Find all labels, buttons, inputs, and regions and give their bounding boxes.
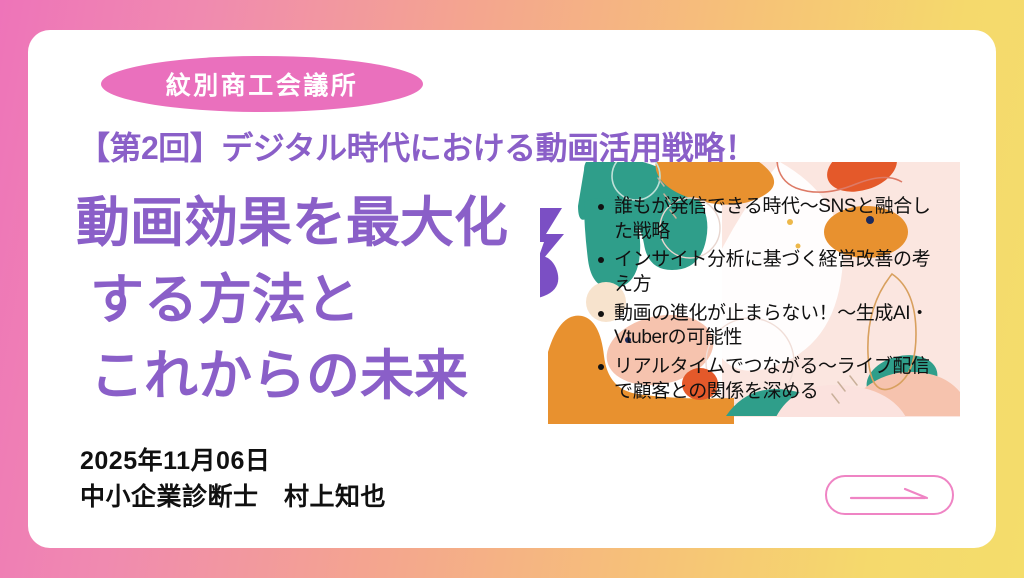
slide-card: 紋別商工会議所 【第2回】デジタル時代における動画活用戦略！ 動画効果を最大化 … bbox=[28, 30, 996, 548]
headline-line-2: する方法と bbox=[76, 262, 576, 339]
organization-badge: 紋別商工会議所 bbox=[101, 56, 423, 112]
bullet-item: リアルタイムでつながる〜ライブ配信で顧客との関係を深める bbox=[596, 355, 941, 404]
topic-bullet-list: 誰もが発信できる時代〜SNSと融合した戦略 インサイト分析に基づく経営改善の考え… bbox=[596, 195, 941, 409]
headline-line-1: 動画効果を最大化 bbox=[76, 185, 576, 262]
headline: 動画効果を最大化 する方法と これからの未来 bbox=[76, 185, 576, 415]
event-date: 2025年11月06日 bbox=[80, 444, 386, 480]
arrow-right-icon bbox=[847, 486, 933, 504]
next-arrow-button[interactable] bbox=[825, 475, 954, 515]
organization-badge-label: 紋別商工会議所 bbox=[166, 66, 359, 102]
bullet-item: 動画の進化が止まらない！〜生成AI・Vtuberの可能性 bbox=[596, 302, 941, 351]
bullet-item: 誰もが発信できる時代〜SNSと融合した戦略 bbox=[596, 195, 941, 244]
headline-line-3: これからの未来 bbox=[76, 338, 576, 415]
bullet-item: インサイト分析に基づく経営改善の考え方 bbox=[596, 248, 941, 297]
presenter-name: 中小企業診断士 村上知也 bbox=[80, 480, 386, 516]
slide-canvas: 紋別商工会議所 【第2回】デジタル時代における動画活用戦略！ 動画効果を最大化 … bbox=[0, 0, 1024, 578]
footer-block: 2025年11月06日 中小企業診断士 村上知也 bbox=[80, 444, 386, 515]
